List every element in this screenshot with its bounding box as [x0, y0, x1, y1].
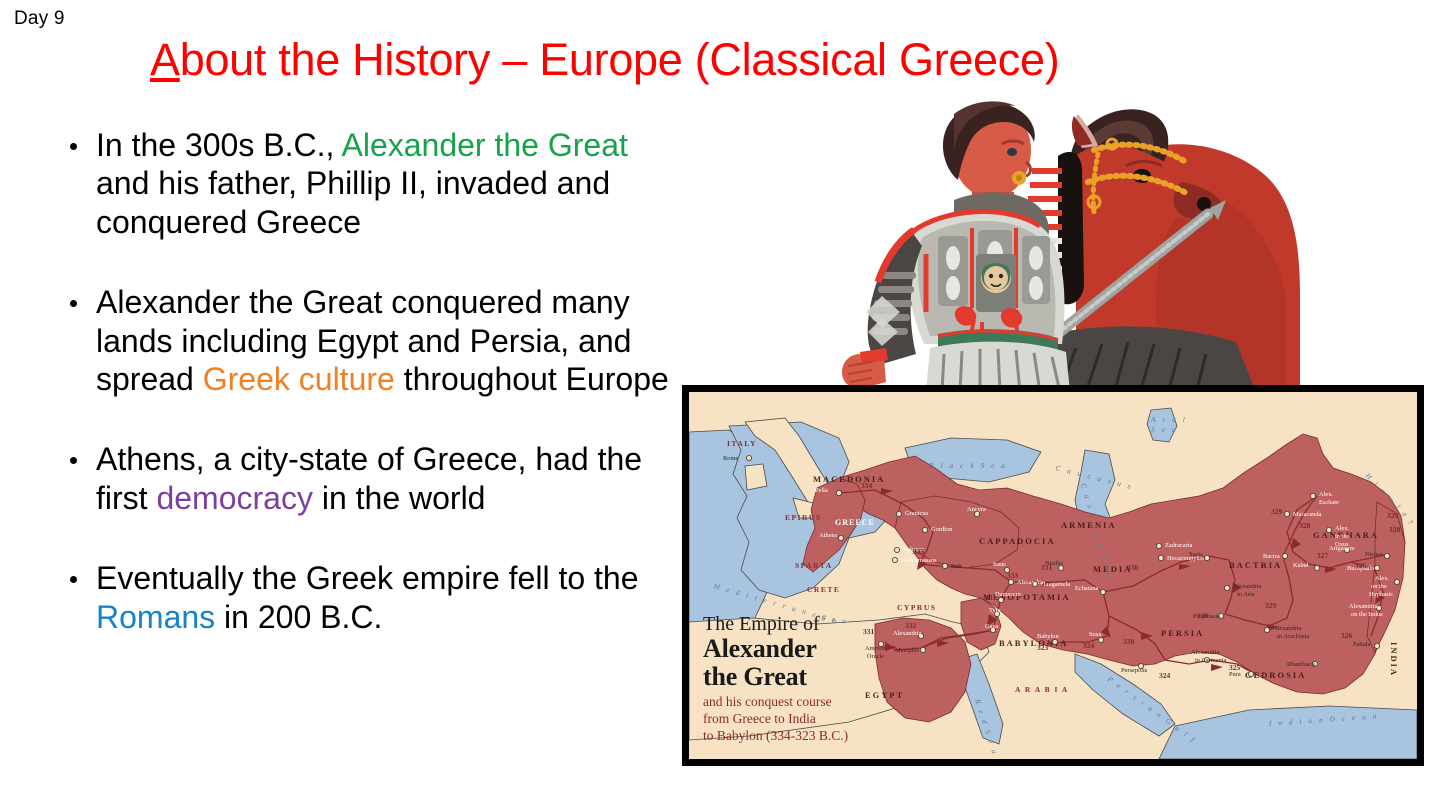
svg-text:334: 334 [861, 481, 873, 490]
svg-text:326: 326 [1355, 561, 1367, 570]
svg-text:333: 333 [913, 547, 925, 556]
svg-text:324: 324 [1083, 641, 1095, 650]
svg-text:CAPPADOCIA: CAPPADOCIA [979, 536, 1056, 546]
svg-text:Issus: Issus [993, 561, 1006, 568]
svg-text:Granicus: Granicus [905, 510, 929, 517]
svg-text:in the: in the [1335, 533, 1350, 540]
alexander-empire-map: .sea{fill:#A8C4DE;stroke:#4A4A4A;stroke-… [682, 385, 1424, 766]
svg-text:Nicaea: Nicaea [1365, 551, 1383, 558]
svg-text:Alex.: Alex. [1335, 525, 1349, 532]
svg-text:Babylon: Babylon [1037, 633, 1059, 640]
svg-text:Pura: Pura [1229, 671, 1241, 678]
day-tag: Day 9 [14, 8, 65, 30]
svg-text:ITALY: ITALY [727, 439, 757, 448]
svg-text:ARMENIA: ARMENIA [1061, 520, 1117, 530]
svg-text:Eschate: Eschate [1319, 499, 1339, 506]
svg-text:323: 323 [1037, 643, 1049, 652]
svg-text:329: 329 [1265, 601, 1277, 610]
svg-text:Rhambacia: Rhambacia [1287, 661, 1316, 668]
svg-text:in Arachosia: in Arachosia [1277, 633, 1309, 640]
svg-text:Damascus: Damascus [995, 591, 1022, 598]
svg-text:Arigaeum: Arigaeum [1329, 545, 1355, 552]
svg-text:Athens: Athens [819, 532, 838, 539]
svg-text:327: 327 [1317, 551, 1329, 560]
map-canvas: .sea{fill:#A8C4DE;stroke:#4A4A4A;stroke-… [689, 392, 1417, 759]
svg-text:Rome: Rome [723, 455, 738, 462]
svg-text:330: 330 [1197, 611, 1209, 620]
svg-text:329: 329 [1271, 507, 1283, 516]
bullet-item-4: Eventually the Greek empire fell to the … [62, 559, 680, 636]
svg-text:Kabul: Kabul [1293, 562, 1309, 569]
svg-text:in Aria: in Aria [1237, 591, 1255, 598]
svg-text:Pattala: Pattala [1353, 641, 1371, 648]
svg-text:328: 328 [1389, 525, 1401, 534]
svg-text:GEDROSIA: GEDROSIA [1245, 670, 1306, 680]
svg-text:Side: Side [951, 563, 963, 570]
svg-text:Alex.: Alex. [1319, 491, 1333, 498]
svg-text:Susa: Susa [1089, 631, 1101, 638]
map-caption-subtitle: and his conquest course from Greece to I… [703, 694, 913, 744]
map-caption: The Empire of Alexander the Great and hi… [703, 614, 913, 744]
map-sea-label: B l a c k S e a [929, 461, 1008, 470]
title-rest: bout the History – Europe (Classical Gre… [180, 34, 1060, 85]
title-first-letter: A [150, 34, 180, 85]
svg-text:Gordion: Gordion [931, 526, 953, 533]
svg-text:Alexandria: Alexandria [1273, 625, 1302, 632]
svg-text:Alexandria: Alexandria [1191, 649, 1220, 656]
svg-text:330: 330 [1127, 563, 1139, 572]
bullet-text-1: In the 300s B.C., Alexander the Great an… [96, 127, 628, 240]
svg-text:A R A B I A: A R A B I A [1015, 685, 1069, 694]
svg-text:MACEDONIA: MACEDONIA [813, 474, 885, 484]
svg-text:Ancyra: Ancyra [967, 506, 986, 513]
bullet-dot-icon [70, 143, 77, 150]
svg-text:Gaugamela: Gaugamela [1041, 581, 1070, 588]
svg-text:333: 333 [1007, 571, 1019, 580]
svg-text:Persepolis: Persepolis [1121, 667, 1148, 674]
bullet-text-2: Alexander the Great conquered many lands… [96, 284, 669, 397]
svg-text:Ecbatana: Ecbatana [1075, 585, 1099, 592]
bullet-dot-icon [70, 300, 77, 307]
svg-text:328: 328 [1299, 521, 1311, 530]
svg-text:on the Indus: on the Indus [1351, 611, 1383, 618]
svg-text:GREECE: GREECE [835, 518, 875, 527]
svg-text:324: 324 [1159, 671, 1171, 680]
svg-text:PERSIA: PERSIA [1161, 628, 1204, 638]
svg-text:EPIRUS: EPIRUS [785, 513, 822, 522]
bullet-text-3: Athens, a city-state of Greece, had the … [96, 441, 642, 515]
map-caption-line2: Alexander [703, 635, 913, 663]
svg-text:Alexandria: Alexandria [1233, 583, 1262, 590]
svg-text:CYPRUS: CYPRUS [897, 603, 936, 612]
svg-text:329: 329 [1387, 511, 1399, 520]
svg-text:on the: on the [1371, 583, 1387, 590]
svg-text:Alex.: Alex. [1375, 575, 1389, 582]
highlight-romans: Romans [96, 599, 215, 635]
highlight-democracy: democracy [156, 480, 313, 516]
bullet-item-2: Alexander the Great conquered many lands… [62, 283, 680, 398]
map-caption-line1: The Empire of [703, 614, 913, 635]
svg-text:S e a: S e a [1151, 425, 1178, 434]
svg-text:326: 326 [1341, 631, 1353, 640]
svg-text:325: 325 [1229, 663, 1241, 672]
page-title: About the History – Europe (Classical Gr… [150, 36, 1440, 85]
svg-text:Zadracarta: Zadracarta [1165, 542, 1192, 549]
alexander-on-horseback-illustration [826, 96, 1300, 392]
bullet-text-4: Eventually the Greek empire fell to the … [96, 560, 639, 634]
map-caption-subtitle-line1: and his conquest course [703, 694, 913, 711]
svg-text:SPARTA: SPARTA [795, 561, 833, 570]
highlight-alexander-the-great: Alexander the Great [341, 127, 627, 163]
svg-text:CRETE: CRETE [807, 585, 840, 594]
map-caption-line3: the Great [703, 663, 913, 691]
svg-text:A r a l: A r a l [1150, 415, 1187, 424]
svg-text:331: 331 [985, 593, 997, 602]
svg-text:Alexandria: Alexandria [1349, 603, 1378, 610]
svg-text:331: 331 [1041, 563, 1053, 572]
bullet-list: In the 300s B.C., Alexander the Great an… [62, 126, 680, 636]
svg-text:Gaza: Gaza [985, 623, 998, 630]
svg-text:Susia: Susia [1189, 551, 1203, 558]
bullet-dot-icon [70, 576, 77, 583]
svg-text:Hyphasis: Hyphasis [1369, 591, 1393, 598]
map-caption-subtitle-line3: to Babylon (334-323 B.C.) [703, 728, 913, 745]
bullet-item-1: In the 300s B.C., Alexander the Great an… [62, 126, 680, 241]
svg-text:BACTRIA: BACTRIA [1229, 560, 1282, 570]
bullet-dot-icon [70, 457, 77, 464]
svg-text:Maracanda: Maracanda [1293, 511, 1322, 518]
highlight-greek-culture: Greek culture [203, 361, 395, 397]
svg-text:Bactra: Bactra [1263, 553, 1280, 560]
svg-text:Halicarnassos: Halicarnassos [901, 557, 937, 564]
svg-text:in Carmania: in Carmania [1195, 657, 1227, 664]
svg-text:INDIA: INDIA [1389, 642, 1399, 677]
bullet-item-3: Athens, a city-state of Greece, had the … [62, 440, 680, 517]
slide: Day 9 About the History – Europe (Classi… [0, 0, 1440, 810]
svg-text:330: 330 [1123, 637, 1135, 646]
svg-text:Tyre: Tyre [989, 607, 1001, 614]
map-caption-subtitle-line2: from Greece to India [703, 711, 913, 728]
svg-text:Pella: Pella [815, 487, 828, 494]
